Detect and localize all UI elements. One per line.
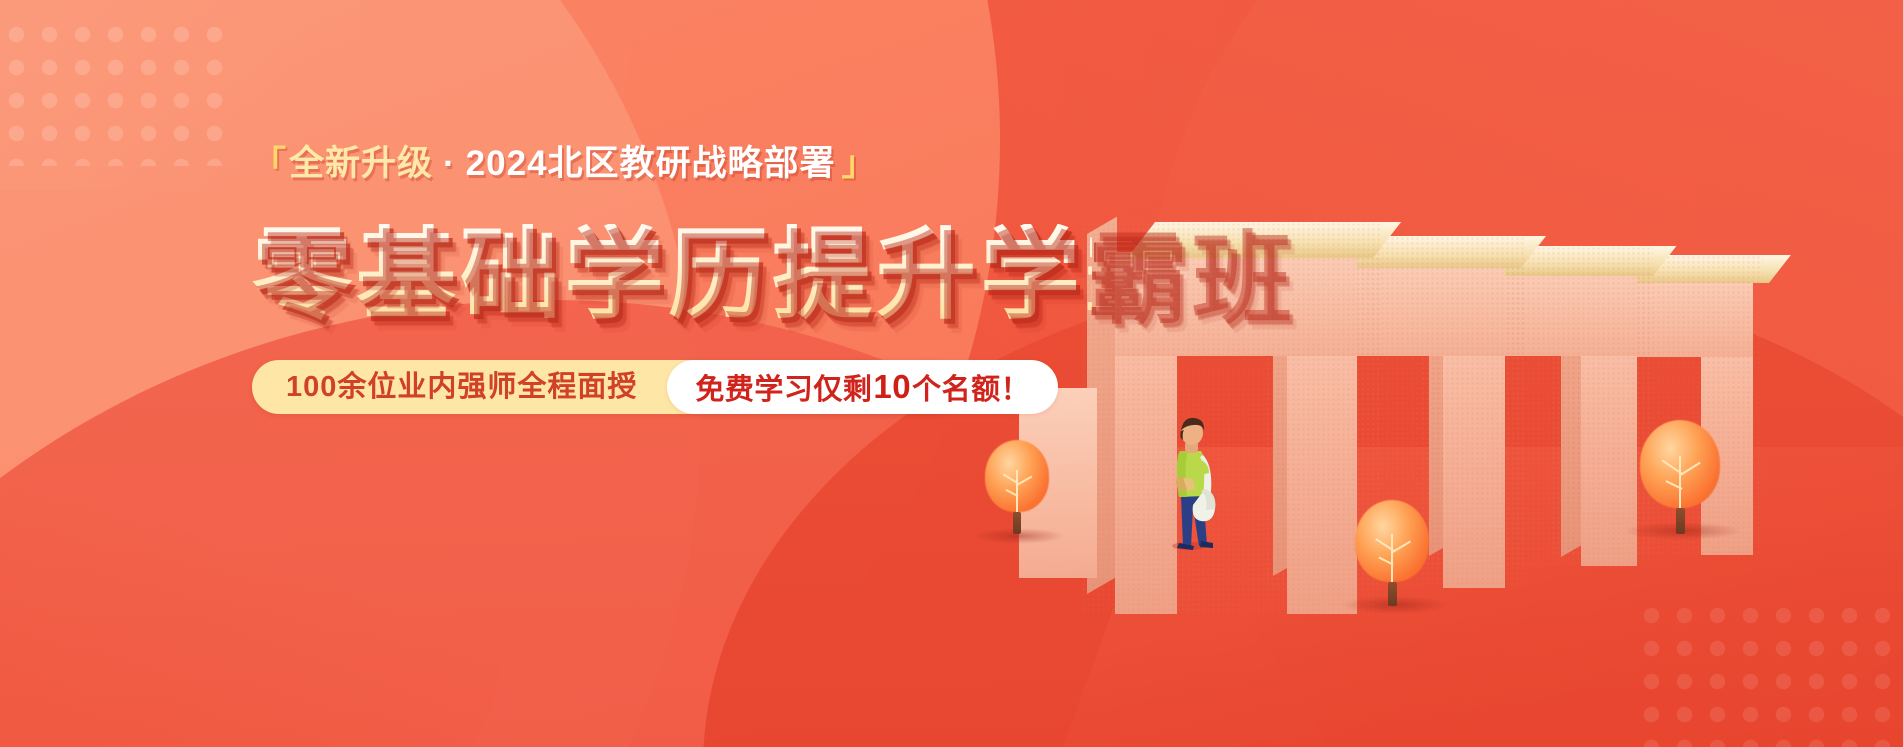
kicker-gold-text: 全新升级 bbox=[289, 146, 433, 181]
bracket-open-icon: 「 bbox=[252, 147, 287, 181]
kicker-white-text: 2024北区教研战略部署 bbox=[466, 146, 836, 181]
pill-seats-suffix: 个名额！ bbox=[912, 366, 1030, 408]
highlight-pill-group: 100余位业内强师全程面授 免费学习仅剩 10 个名额！ bbox=[252, 360, 958, 414]
pill-seats-badge[interactable]: 免费学习仅剩 10 个名额！ bbox=[667, 360, 1058, 414]
student-walking bbox=[1163, 415, 1221, 550]
bracket-close-icon: 」 bbox=[842, 147, 877, 181]
pill-seats-count: 10 bbox=[872, 368, 912, 406]
kicker-line: 「 全新升级 · 2024北区教研战略部署 」 bbox=[252, 146, 1092, 200]
dot-pattern-top-left bbox=[0, 18, 232, 166]
pill-seats-prefix: 免费学习仅剩 bbox=[695, 366, 872, 408]
pill-teachers-label: 100余位业内强师全程面授 bbox=[252, 360, 663, 414]
illustration-books-scene bbox=[1003, 0, 1903, 747]
kicker-separator-icon: · bbox=[433, 146, 466, 181]
headline-block: 「 全新升级 · 2024北区教研战略部署 」 零基础学历提升学霸班 100余位… bbox=[252, 146, 1092, 414]
tree-right bbox=[1640, 420, 1726, 538]
promo-banner: 「 全新升级 · 2024北区教研战略部署 」 零基础学历提升学霸班 100余位… bbox=[0, 0, 1903, 747]
tree-mid bbox=[1355, 500, 1435, 610]
tree-left bbox=[985, 440, 1055, 540]
page-title: 零基础学历提升学霸班 bbox=[252, 224, 1092, 326]
